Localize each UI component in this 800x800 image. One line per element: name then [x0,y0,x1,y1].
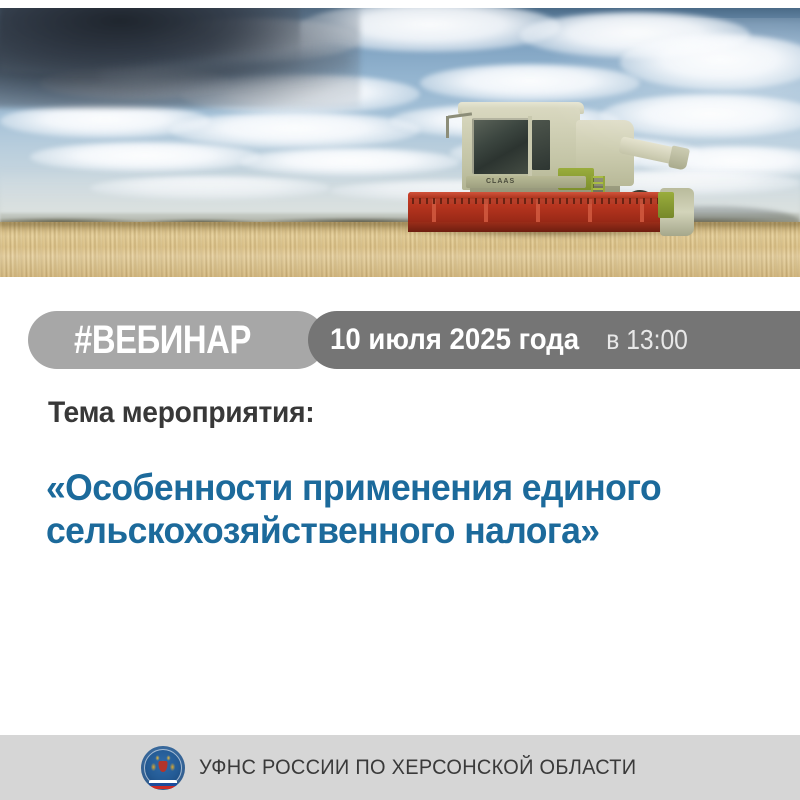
footer-band: УФНС РОССИИ ПО ХЕРСОНСКОЙ ОБЛАСТИ [0,735,800,800]
footer-content: УФНС РОССИИ ПО ХЕРСОНСКОЙ ОБЛАСТИ [141,746,659,790]
tricolor-ribbon-icon [149,780,177,789]
webinar-hashtag: #ВЕБИНАР [74,311,251,369]
event-topic-line-1: «Особенности применения единого [46,466,756,509]
hero-photo-canvas: CLAAS [0,8,800,277]
cloud-puff-icon [170,112,420,148]
combine-harvester-icon: CLAAS [408,96,698,236]
subject-label: Тема мероприятия: [48,396,314,430]
event-datetime: 10 июля 2025 годав 13:00 [330,311,699,369]
cab-pillar [528,116,532,176]
webinar-poster: CLAAS #ВЕБИНАР 10 июля 2025 годав 13:00 … [0,0,800,800]
machine-brand-label: CLAAS [486,177,536,186]
event-date: 10 июля 2025 года [330,311,579,369]
auger-spout [668,145,690,170]
cab-mirror-arm [446,116,449,138]
fns-russia-emblem-icon [141,746,185,790]
organization-name: УФНС РОССИИ ПО ХЕРСОНСКОЙ ОБЛАСТИ [199,756,636,780]
event-topic-line-2: сельскохозяйственного налога» [46,509,756,552]
event-topic: «Особенности применения единого сельскох… [46,466,756,553]
event-banner: #ВЕБИНАР 10 июля 2025 годав 13:00 [0,311,800,369]
header-end-accent [658,192,674,218]
header-reel-teeth [412,198,682,204]
event-time: в 13:00 [601,311,688,369]
hero-photo: CLAAS [0,8,800,277]
cab-side-window [532,120,550,170]
cab-windshield [472,118,530,174]
header-cutter-bar [408,222,686,232]
